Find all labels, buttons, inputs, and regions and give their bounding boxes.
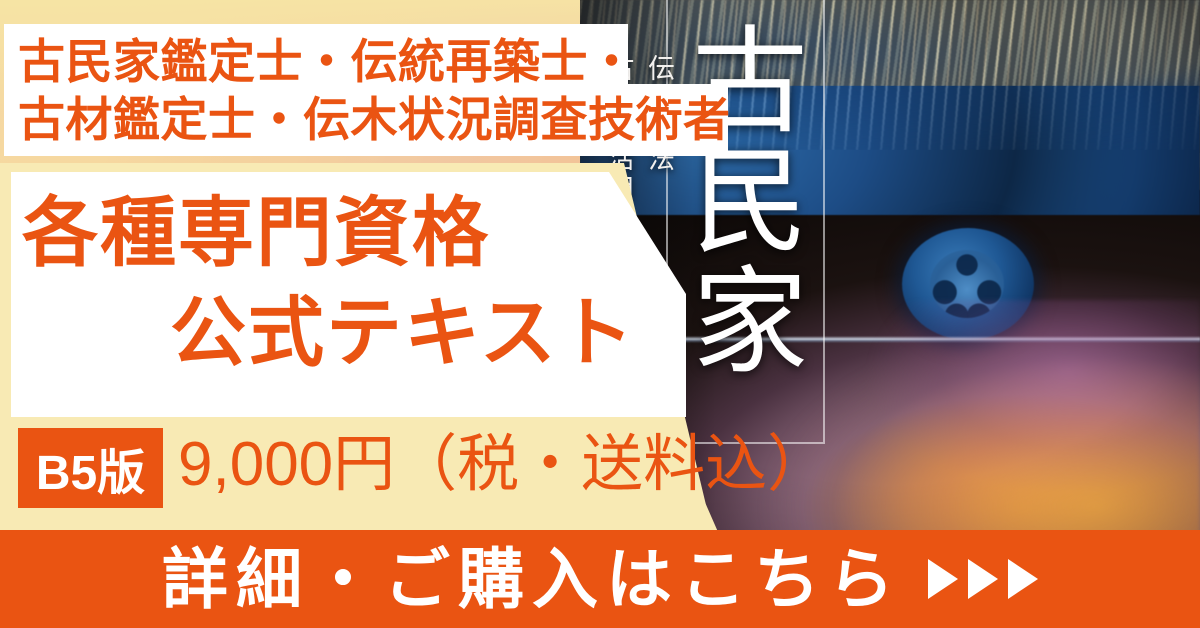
format-badge: B5版 [18, 428, 163, 508]
headline-line-1: 各種専門資格 [22, 196, 490, 272]
cta-bar[interactable]: 詳細・ご購入はこちら [0, 530, 1200, 628]
headline-line-2: 公式テキスト [170, 296, 636, 372]
promo-banner: 古民家 伝統構法 古民家活用のための調査と再生の 古民家鑑定士・伝統再築士・ 古… [0, 0, 1200, 628]
play-triangle-icon [1008, 559, 1038, 599]
play-triangle-icon [928, 559, 958, 599]
cta-label: 詳細・ご購入はこちら [162, 546, 902, 612]
cover-title-text: 古民家 [682, 20, 800, 380]
play-triangle-icon [968, 559, 998, 599]
cta-arrows [928, 559, 1038, 599]
price-text: 9,000円（税・送料込） [178, 434, 829, 496]
qualifications-line-2: 古材鑑定士・伝木状況調査技術者 [18, 96, 731, 143]
qualifications-line-1: 古民家鑑定士・伝統再築士・ [18, 38, 636, 85]
